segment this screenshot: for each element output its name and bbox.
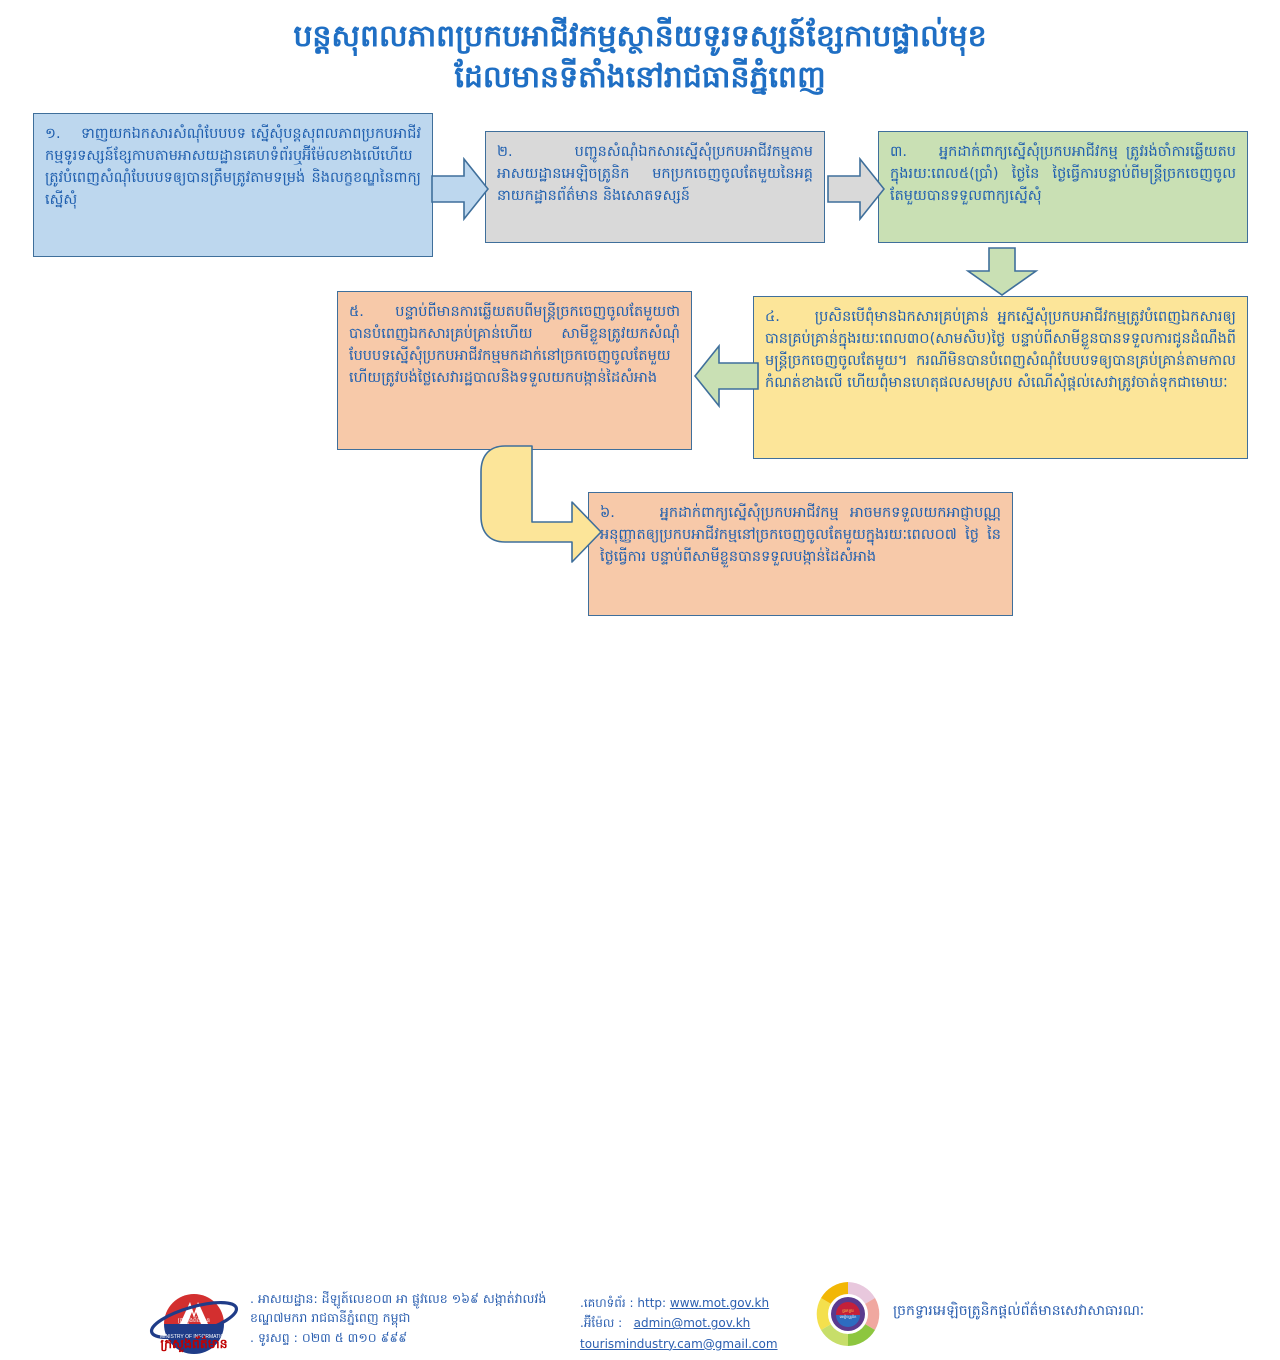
email-label: .អ៊ីម៉ែល :: [580, 1316, 622, 1330]
contact-web-block: .គេហទំព័រ : http: www.mot.gov.kh .អ៊ីម៉ែ…: [580, 1293, 778, 1354]
department-caption: ច្រកទ្វារអេឡិចត្រូនិកផ្តល់ព័ត៌មានសេវាសាធ…: [893, 1301, 1144, 1322]
svg-text:ច្រកទ្វារ: ច្រកទ្វារ: [842, 1308, 854, 1313]
step-text-4: ប្រសិនបើពុំមានឯកសារគ្រប់គ្រាន់ អ្នកស្នើស…: [765, 309, 1236, 391]
email-row-1: .អ៊ីម៉ែល : admin@mot.gov.kh: [580, 1313, 778, 1333]
phone-line: . ទូរសព្ទ : ០២៣ ៥ ៣១០ ៩៩៩: [250, 1328, 546, 1347]
page-title-line-1: បន្តសុពលភាពប្រកបអាជីវកម្មស្ថានីយទូរទស្សន…: [0, 16, 1280, 57]
step-text-6: អ្នកដាក់ពាក្យស្នើសុំប្រកបអាជីវកម្ម អាចមក…: [600, 505, 1001, 565]
svg-text:ក្រសួងព័ត៌មាន: ក្រសួងព័ត៌មាន: [178, 1316, 210, 1324]
address-line-2: ខណ្ឌ៧មករា រាជធានីភ្នំពេញ កម្ពុជា: [250, 1308, 546, 1327]
step-text-2: បញ្ជូនសំណុំឯកសារស្នើសុំប្រកបអាជីវកម្មតាម…: [497, 144, 813, 204]
step-number-3: ៣.: [890, 144, 907, 160]
step-text-5: បន្ទាប់ពីមានការឆ្លើយតបពីមន្ត្រីច្រកចេញចូ…: [349, 304, 680, 386]
step-number-1: ១.: [45, 126, 61, 142]
public-service-egateway-logo-icon: ច្រកទ្វារ អេឡិចត្រូនិក: [815, 1281, 881, 1347]
page-title-line-2: ដែលមានទីតាំងនៅរាជធានីភ្នំពេញ: [0, 57, 1280, 98]
process-step-box-1: ១. ទាញយកឯកសារសំណុំបែបបទ ស្នើសុំបន្តសុពលភ…: [33, 113, 433, 257]
step-number-2: ២.: [497, 144, 513, 160]
process-step-box-6: ៦. អ្នកដាក់ពាក្យស្នើសុំប្រកបអាជីវកម្ម អា…: [588, 492, 1013, 616]
process-step-box-2: ២. បញ្ជូនសំណុំឯកសារស្នើសុំប្រកបអាជីវកម្ម…: [485, 131, 825, 243]
slide-canvas: បន្តសុពលភាពប្រកបអាជីវកម្មស្ថានីយទូរទស្សន…: [0, 0, 1280, 720]
arrow-down-icon-step3-to-step4: [965, 247, 1039, 297]
process-step-box-5: ៥. បន្ទាប់ពីមានការឆ្លើយតបពីមន្ត្រីច្រកចេ…: [337, 291, 692, 450]
email-link-2[interactable]: tourismindustry.cam@gmail.com: [580, 1337, 778, 1351]
website-label: .គេហទំព័រ : http:: [580, 1296, 666, 1310]
page-title: បន្តសុពលភាពប្រកបអាជីវកម្មស្ថានីយទូរទស្សន…: [0, 16, 1280, 99]
arrow-elbow-icon-step5-to-step6: [479, 444, 603, 566]
arrow-right-icon-step2-to-step3: [827, 157, 885, 221]
step-number-4: ៤.: [765, 309, 780, 325]
email-row-2: tourismindustry.cam@gmail.com: [580, 1334, 778, 1354]
process-step-box-4: ៤. ប្រសិនបើពុំមានឯកសារគ្រប់គ្រាន់ អ្នកស្…: [753, 296, 1248, 459]
process-step-box-3: ៣. អ្នកដាក់ពាក្យស្នើសុំប្រកបអាជីវកម្ម ត្…: [878, 131, 1248, 243]
contact-address-block: . អាសយដ្ឋាន: ដីឡូត៍លេខ០៣ អា ផ្លូវលេខ ១៦៩…: [250, 1289, 546, 1347]
email-link-1[interactable]: admin@mot.gov.kh: [634, 1316, 751, 1330]
step-text-1: ទាញយកឯកសារសំណុំបែបបទ ស្នើសុំបន្តសុពលភាពប…: [45, 126, 421, 208]
step-number-5: ៥.: [349, 304, 364, 320]
ministry-logo-caption: ក្រសួងព័ត៌មាន: [140, 1336, 248, 1355]
website-row: .គេហទំព័រ : http: www.mot.gov.kh: [580, 1293, 778, 1313]
footer: ក្រសួងព័ត៌មាន MINISTRY OF INFORMATION ក្…: [0, 636, 1280, 720]
website-link[interactable]: www.mot.gov.kh: [670, 1296, 769, 1310]
address-line-1: . អាសយដ្ឋាន: ដីឡូត៍លេខ០៣ អា ផ្លូវលេខ ១៦៩…: [250, 1289, 546, 1308]
arrow-left-icon-step4-to-step5: [694, 343, 760, 409]
step-text-3: អ្នកដាក់ពាក្យស្នើសុំប្រកបអាជីវកម្ម ត្រូវ…: [890, 144, 1236, 204]
arrow-right-icon-step1-to-step2: [431, 157, 489, 221]
